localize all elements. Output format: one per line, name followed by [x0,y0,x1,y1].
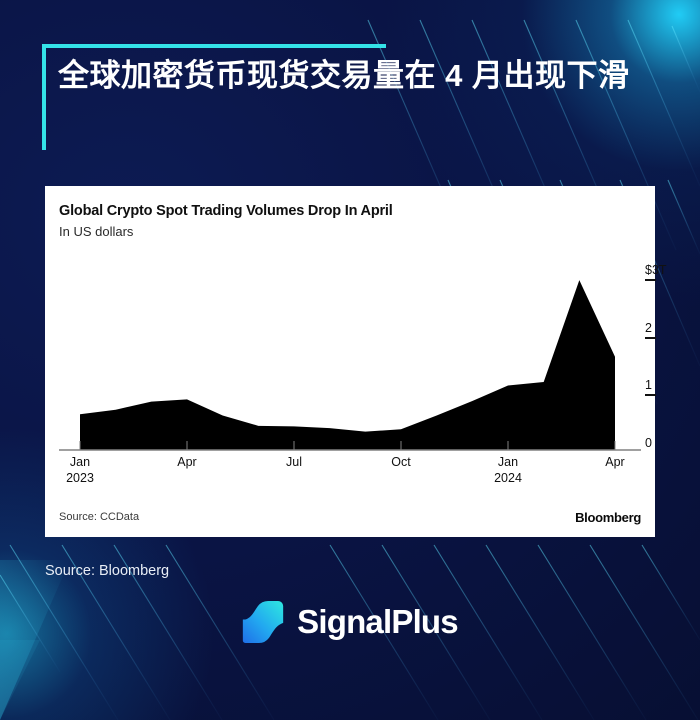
signalplus-wordmark: SignalPlus [297,603,458,641]
x-axis-tick-label: Apr [157,454,217,470]
y-axis-tick: 2 [645,322,685,339]
y-axis-tick-label: 2 [645,322,685,335]
y-axis-tick-dash [645,394,656,396]
plot-area [59,256,641,451]
chart-subtitle: In US dollars [59,224,133,239]
chart-source-note: Source: CCData [59,511,139,523]
x-axis-tick-label-month: Jan [498,455,518,469]
signalplus-mark-icon [242,600,284,644]
y-axis-tick-dash [645,279,656,281]
x-axis-tick-label-month: Oct [391,455,410,469]
y-axis-tick: $3T [645,264,685,281]
accent-bar-vertical [42,44,46,150]
x-axis-tick-label: Jan2024 [478,454,538,486]
bloomberg-brand-label: Bloomberg [575,510,641,525]
area-series-shape [80,280,615,450]
x-axis-tick-label-month: Apr [177,455,196,469]
y-axis-tick: 1 [645,379,685,396]
signalplus-logo: SignalPlus [0,600,700,644]
outer-source-label: Source: Bloomberg [45,563,169,579]
y-axis-tick-dash [645,337,656,339]
page-title: 全球加密货币现货交易量在 4 月出现下滑 [58,44,662,98]
x-axis-tick-label: Jul [264,454,324,470]
y-axis-tick-label: 1 [645,379,685,392]
x-axis-tick-label-month: Jan [70,455,90,469]
x-axis-tick-label: Apr [585,454,645,470]
y-axis: $3T210 [645,256,689,456]
chart-title: Global Crypto Spot Trading Volumes Drop … [59,203,393,219]
accent-bar-horizontal [42,44,386,48]
headline-block: 全球加密货币现货交易量在 4 月出现下滑 [42,44,662,98]
x-axis-labels: Jan2023AprJulOctJan2024Apr [45,454,655,502]
x-axis-tick-label-month: Apr [605,455,624,469]
x-axis-tick-label-year: 2024 [478,470,538,486]
x-axis-tick-label-year: 2023 [50,470,110,486]
chart-panel: Global Crypto Spot Trading Volumes Drop … [45,186,655,537]
area-chart-svg [59,256,641,451]
y-axis-tick: 0 [645,437,685,450]
y-axis-tick-label: 0 [645,437,685,450]
x-axis-tick-label-month: Jul [286,455,302,469]
x-axis-tick-label: Oct [371,454,431,470]
y-axis-tick-label: $3T [645,264,685,277]
x-axis-tick-label: Jan2023 [50,454,110,486]
